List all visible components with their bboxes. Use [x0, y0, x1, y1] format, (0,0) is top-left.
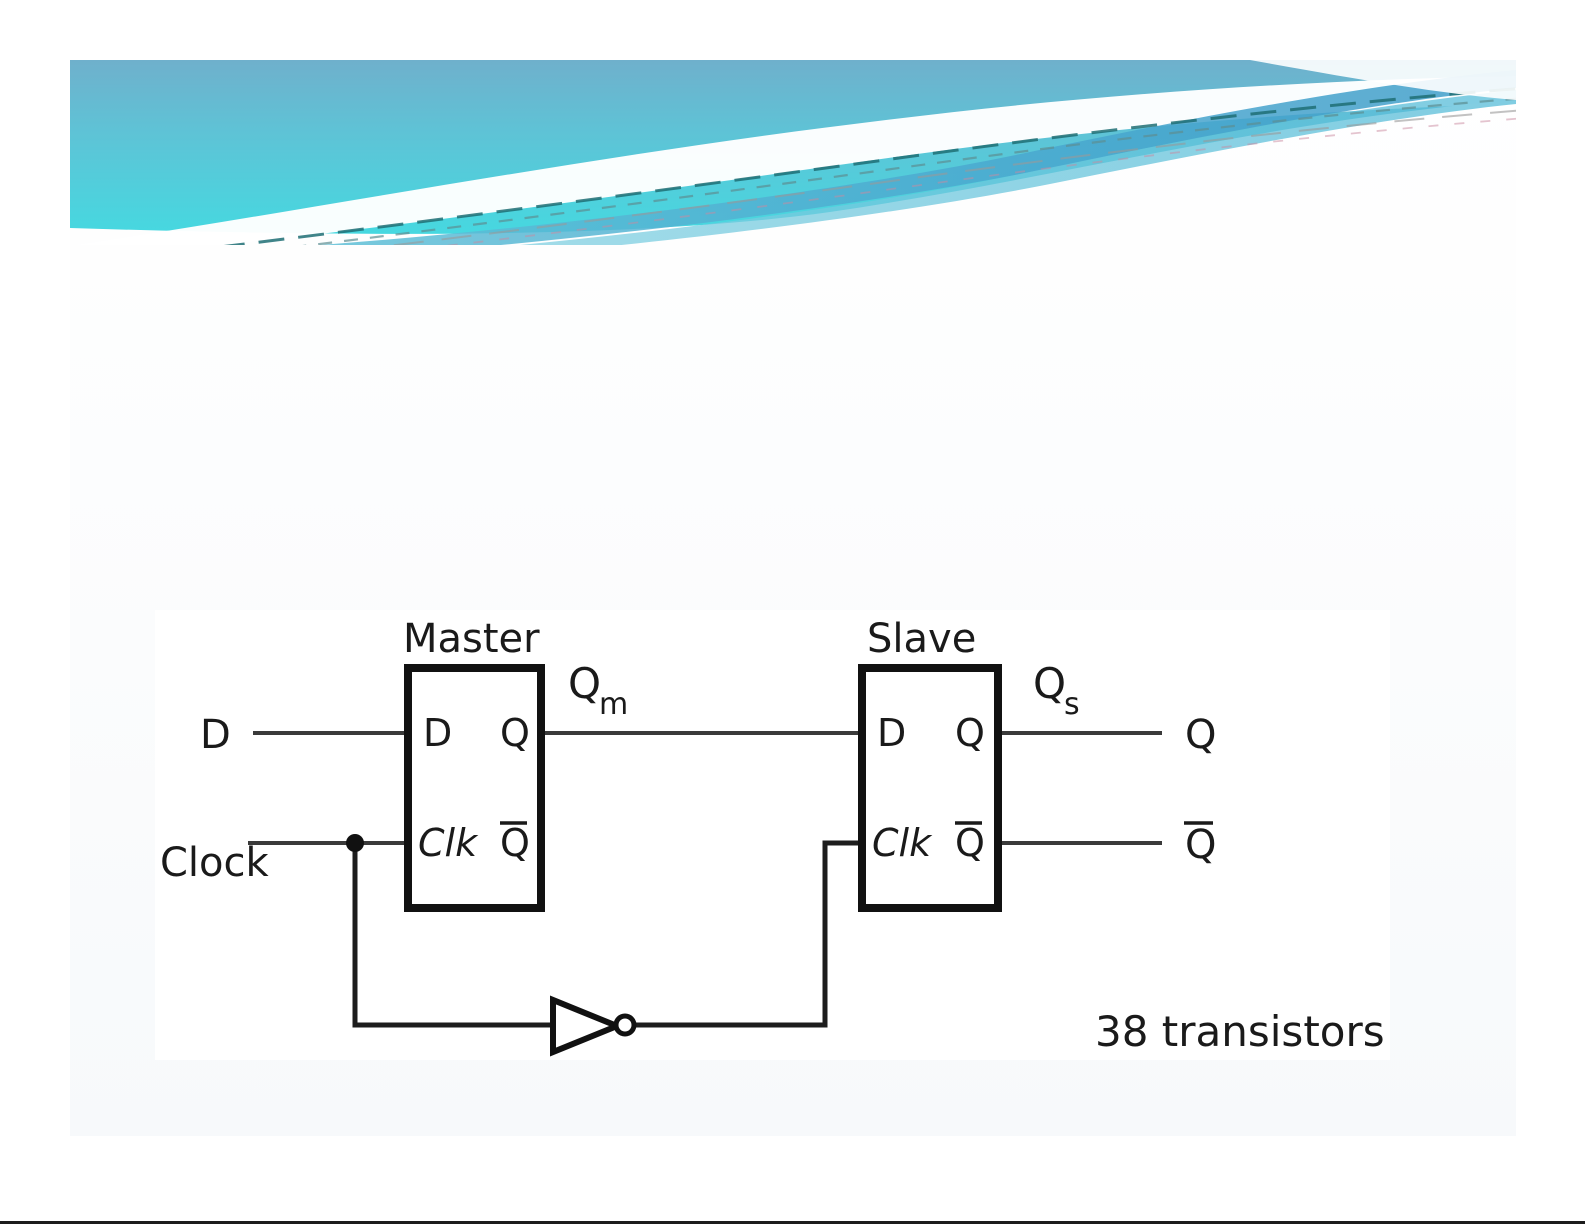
master-pin-qbar-letter: Q	[500, 821, 530, 865]
master-pin-q: Q	[500, 711, 530, 755]
slave-title: Slave	[867, 616, 976, 662]
diagram-image: Master Slave D Q Clk Q D Q Clk Q	[155, 610, 1390, 1060]
signal-label-qm-letter: Q	[568, 659, 601, 708]
output-label-q: Q	[1185, 712, 1216, 758]
input-label-clock: Clock	[160, 840, 270, 886]
master-pin-d: D	[423, 711, 452, 755]
not-gate-bubble	[616, 1016, 634, 1034]
transistor-count-caption: 38 transistors	[1095, 1007, 1385, 1056]
signal-label-qm-sub: m	[599, 687, 628, 722]
output-label-qbar: Q	[1184, 822, 1216, 868]
output-label-qbar-letter: Q	[1185, 822, 1216, 868]
page-canvas: Master Slave D Q Clk Q D Q Clk Q	[0, 0, 1585, 1225]
presentation-slide: Master Slave D Q Clk Q D Q Clk Q	[70, 60, 1516, 1136]
input-label-d: D	[200, 712, 231, 758]
master-pin-clk: Clk	[418, 821, 479, 865]
master-pin-qbar: Q	[500, 821, 530, 865]
slave-pin-clk: Clk	[872, 821, 933, 865]
clock-junction-dot	[346, 834, 364, 852]
slide-header-artwork	[70, 60, 1516, 245]
slave-flipflop-box	[862, 668, 998, 908]
slave-pin-qbar-letter: Q	[955, 821, 985, 865]
slave-pin-q: Q	[955, 711, 985, 755]
master-title: Master	[403, 616, 540, 662]
signal-label-qs-sub: s	[1064, 687, 1080, 722]
signal-label-qs-letter: Q	[1033, 659, 1066, 708]
slave-pin-qbar: Q	[955, 821, 985, 865]
slave-pin-d: D	[877, 711, 906, 755]
page-bottom-rule	[0, 1221, 1585, 1224]
master-flipflop-box	[408, 668, 541, 908]
